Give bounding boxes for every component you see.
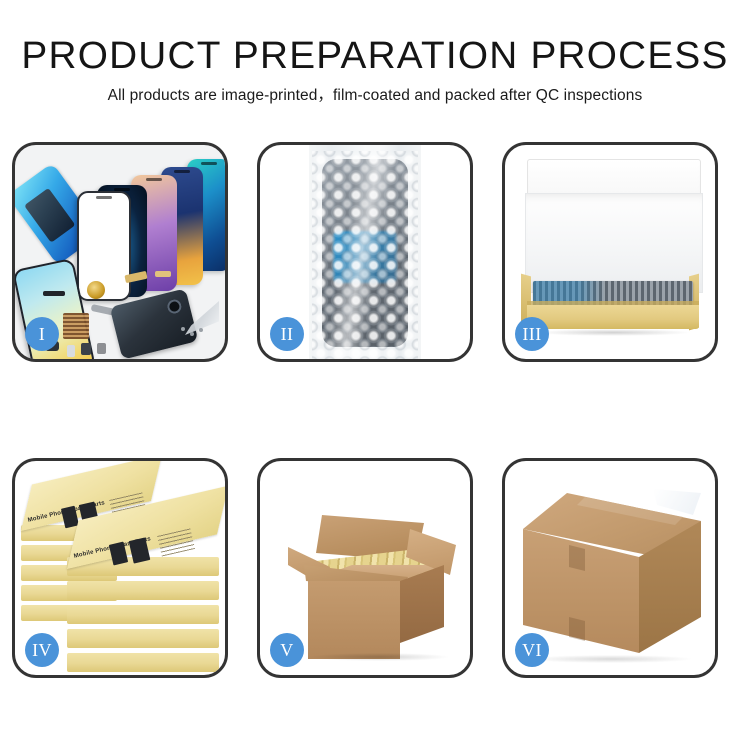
phone-glass-panel <box>77 191 131 301</box>
plastic-wrap-corner <box>653 489 701 515</box>
step-panel-1: I <box>12 142 228 362</box>
step-badge-3: III <box>515 317 549 351</box>
step-panel-3: III <box>502 142 718 362</box>
steps-grid: I II <box>12 142 738 678</box>
stacked-box-front-2 <box>67 581 219 600</box>
spare-part-chip-1 <box>43 291 65 296</box>
step-badge-6: VI <box>515 633 549 667</box>
plastic-gloss-highlight <box>309 145 421 359</box>
carton-side-front <box>308 581 400 659</box>
step-badge-1: I <box>25 317 59 351</box>
step-panel-5: V <box>257 458 473 678</box>
gold-coil-part <box>87 281 105 299</box>
product-preparation-infographic: PRODUCT PREPARATION PROCESS All products… <box>0 0 750 750</box>
stacked-box-front-3 <box>67 605 219 624</box>
carton-edge-tab-1 <box>569 545 585 571</box>
step-panel-6: VI <box>502 458 718 678</box>
spare-part-chip-5 <box>81 343 91 355</box>
header: PRODUCT PREPARATION PROCESS All products… <box>0 34 750 106</box>
connector-grid-part <box>63 313 89 339</box>
stacked-box-front-4 <box>67 629 219 648</box>
gold-flex-part-2 <box>155 271 171 277</box>
page-subtitle: All products are image-printed，film-coat… <box>0 86 750 106</box>
step-panel-4: Mobile Phone Spare Parts Mobile Phone Sp… <box>12 458 228 678</box>
carton-edge-tab-2 <box>569 617 585 641</box>
spare-part-chip-4 <box>67 345 75 357</box>
sealed-carton-drop-shadow <box>531 655 691 663</box>
step-badge-4: IV <box>25 633 59 667</box>
step-panel-2: II <box>257 142 473 362</box>
step-badge-5: V <box>270 633 304 667</box>
step-badge-2: II <box>270 317 304 351</box>
stacked-box-front-5 <box>67 653 219 672</box>
foam-insert <box>525 193 703 293</box>
screws-group <box>181 327 207 339</box>
carton-drop-shadow <box>310 653 448 661</box>
box-drop-shadow <box>535 329 691 336</box>
box-tray-front <box>527 305 699 329</box>
spare-part-chip-6 <box>97 343 106 354</box>
page-title: PRODUCT PREPARATION PROCESS <box>0 34 750 78</box>
